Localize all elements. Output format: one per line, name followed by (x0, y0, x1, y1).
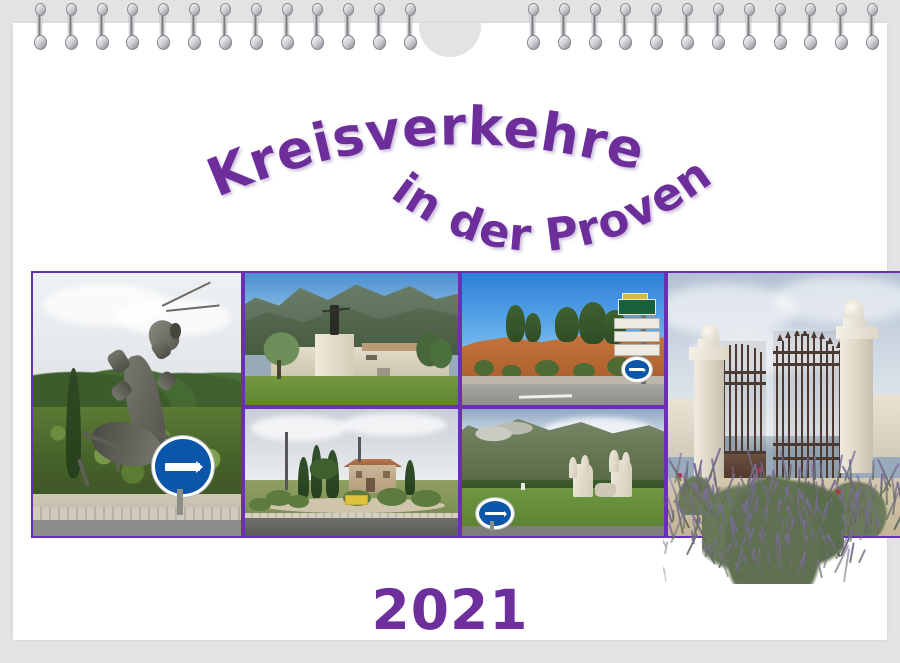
photo-provencal-house[interactable] (243, 407, 460, 538)
hanging-hole (419, 23, 481, 57)
photo-monument[interactable] (243, 271, 460, 407)
yellow-sign-icon (345, 495, 368, 505)
photo-hands[interactable] (460, 407, 666, 538)
green-direction-sign-icon (618, 299, 656, 314)
photo-ochre-hill[interactable] (460, 271, 666, 407)
lavender-spike (737, 482, 740, 498)
lavender-overflow (663, 440, 878, 620)
photo-mantis[interactable] (31, 271, 243, 538)
cover-title: Kreisverkehre in der Provence (13, 57, 887, 257)
lavender-spike (757, 548, 760, 566)
blue-turn-right-sign-icon (622, 357, 652, 381)
